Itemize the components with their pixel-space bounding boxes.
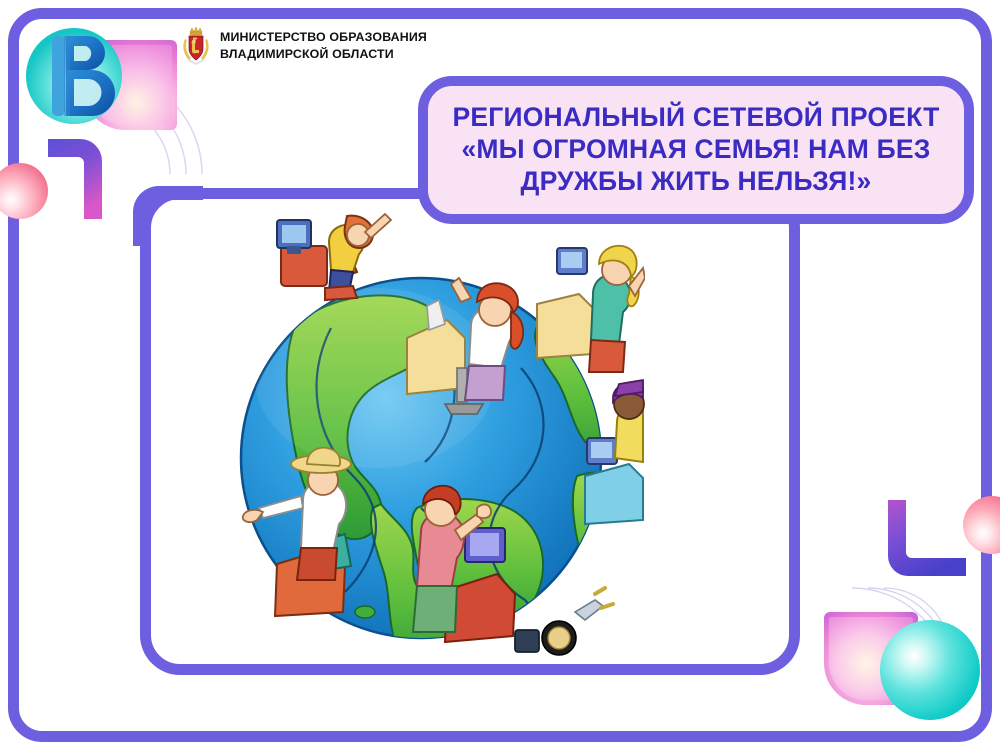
teal-sphere-bottomright-icon <box>880 620 980 720</box>
brand-logo <box>20 18 200 148</box>
slide-root: МИНИСТЕРСТВО ОБРАЗОВАНИЯ ВЛАДИМИРСКОЙ ОБ… <box>0 0 1000 750</box>
child-right <box>585 380 644 524</box>
ministry-header: МИНИСТЕРСТВО ОБРАЗОВАНИЯ ВЛАДИМИРСКОЙ ОБ… <box>181 27 427 65</box>
pink-sphere-left-icon <box>0 163 48 219</box>
child-top-right <box>537 246 645 372</box>
project-title-text: РЕГИОНАЛЬНЫЙ СЕТЕВОЙ ПРОЕКТ «МЫ ОГРОМНАЯ… <box>444 102 947 197</box>
ministry-name-text: МИНИСТЕРСТВО ОБРАЗОВАНИЯ ВЛАДИМИРСКОЙ ОБ… <box>220 29 427 62</box>
vladimir-oblast-coat-of-arms-icon <box>181 27 211 65</box>
logo-letter-v-icon <box>46 34 116 118</box>
project-title-banner: РЕГИОНАЛЬНЫЙ СЕТЕВОЙ ПРОЕКТ «МЫ ОГРОМНАЯ… <box>418 76 974 224</box>
purple-bracket-small-icon <box>133 186 203 246</box>
globe-with-children-at-computers-illustration <box>225 208 645 668</box>
pink-sphere-right-icon <box>963 496 1000 554</box>
purple-bracket-right-icon <box>888 500 966 584</box>
